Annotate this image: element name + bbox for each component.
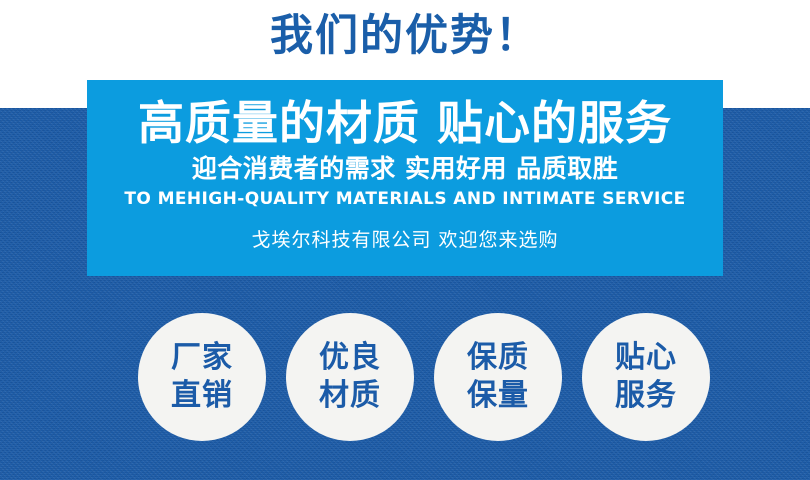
banner-sub-title: 迎合消费者的需求 实用好用 品质取胜	[87, 152, 723, 186]
feature-circle-2-line1: 优良	[319, 339, 381, 377]
feature-circle-4-line2: 服务	[615, 377, 677, 415]
feature-circle-1-line2: 直销	[171, 377, 233, 415]
feature-circle-list: 厂家 直销 优良 材质 保质 保量 贴心 服务	[138, 312, 710, 442]
feature-circle-3-line1: 保质	[467, 339, 529, 377]
banner-english-tagline: TO MEHIGH-QUALITY MATERIALS AND INTIMATE…	[87, 186, 723, 212]
feature-circle-4-line1: 贴心	[615, 339, 677, 377]
headline-banner: 高质量的材质 贴心的服务 迎合消费者的需求 实用好用 品质取胜 TO MEHIG…	[87, 80, 723, 276]
feature-circle-1: 厂家 直销	[138, 313, 266, 441]
feature-circle-1-line1: 厂家	[171, 339, 233, 377]
banner-main-title: 高质量的材质 贴心的服务	[87, 94, 723, 152]
feature-circle-2: 优良 材质	[286, 313, 414, 441]
promo-banner-root: 我们的优势！ 高质量的材质 贴心的服务 迎合消费者的需求 实用好用 品质取胜 T…	[0, 0, 810, 480]
feature-circle-2-line2: 材质	[319, 377, 381, 415]
banner-company-line: 戈埃尔科技有限公司 欢迎您来选购	[87, 226, 723, 254]
feature-circle-3-line2: 保量	[467, 377, 529, 415]
feature-circle-3: 保质 保量	[434, 313, 562, 441]
page-title: 我们的优势！	[0, 8, 810, 64]
feature-circle-4: 贴心 服务	[582, 313, 710, 441]
